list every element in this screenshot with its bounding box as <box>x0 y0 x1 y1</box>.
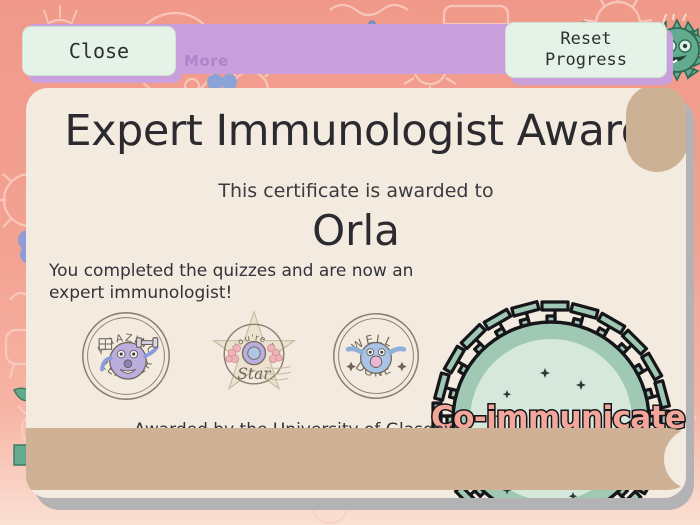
scroll-roll-bottom <box>26 428 686 490</box>
badge-well-done: WELL DONE <box>328 308 424 404</box>
nav-item-more[interactable]: More <box>184 52 229 70</box>
badge-youre-a-star: you're a Star <box>206 308 302 404</box>
reset-button-label-line2: Progress <box>545 50 627 71</box>
badge-row: AMAZING LEARNER <box>66 308 406 408</box>
reset-progress-button[interactable]: Reset Progress <box>505 22 667 78</box>
certificate-body-text: You completed the quizzes and are now an… <box>49 260 469 305</box>
recipient-name: Orla <box>26 206 686 255</box>
reset-button-label-line1: Reset <box>545 29 627 50</box>
badge-amazing-learner: AMAZING LEARNER <box>78 308 174 404</box>
certificate-panel: Expert Immunologist Award This certifica… <box>26 88 686 498</box>
scroll-roll-top-right <box>626 88 686 172</box>
certificate-subtitle: This certificate is awarded to <box>26 180 686 202</box>
close-button[interactable]: Close <box>22 26 176 76</box>
app-screen: Home More Cl <box>0 0 700 525</box>
certificate-title: Expert Immunologist Award <box>26 106 686 156</box>
close-button-label: Close <box>69 39 129 63</box>
